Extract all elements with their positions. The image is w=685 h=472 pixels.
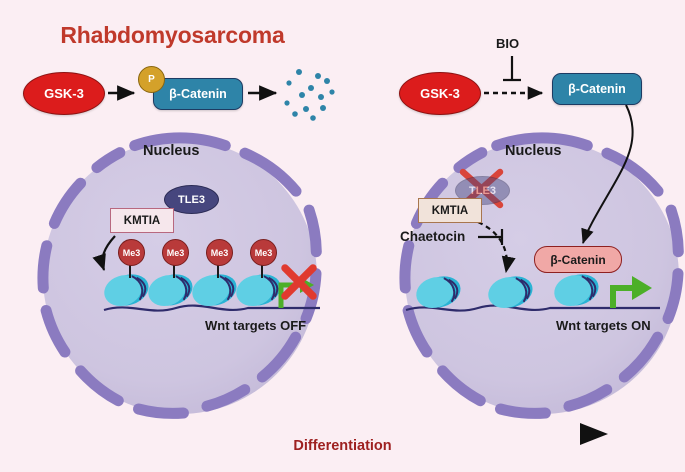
bio-inhibition-symbol: [503, 56, 521, 80]
nucleus-label-right: Nucleus: [505, 143, 561, 159]
kmtia-node-left[interactable]: KMTIA: [110, 208, 174, 233]
kmtia-node-right[interactable]: KMTIA: [418, 198, 482, 223]
me3-mark: Me3: [118, 239, 145, 266]
bio-inhibitor-label: BIO: [496, 36, 519, 51]
gsk3-node-left[interactable]: GSK-3: [23, 72, 105, 115]
degradation-dots: [284, 69, 334, 121]
chaetocin-label: Chaetocin: [400, 229, 465, 244]
phosphate-icon: P: [138, 66, 165, 93]
gsk3-node-right[interactable]: GSK-3: [399, 72, 481, 115]
diagram-graphics: [0, 0, 685, 472]
wnt-targets-status-left: Wnt targets OFF: [205, 318, 306, 333]
nucleus-label-left: Nucleus: [143, 143, 199, 159]
differentiation-axis-label: Differentiation: [0, 438, 685, 454]
me3-mark: Me3: [206, 239, 233, 266]
nuclear-bcatenin-node[interactable]: β-Catenin: [534, 246, 622, 273]
figure-canvas: Rhabdomyosarcoma: [0, 0, 685, 472]
bcatenin-node-right[interactable]: β-Catenin: [552, 73, 642, 105]
bcatenin-node-left[interactable]: β-Catenin: [153, 78, 243, 110]
wnt-targets-status-right: Wnt targets ON: [556, 318, 651, 333]
me3-mark: Me3: [162, 239, 189, 266]
me3-mark: Me3: [250, 239, 277, 266]
